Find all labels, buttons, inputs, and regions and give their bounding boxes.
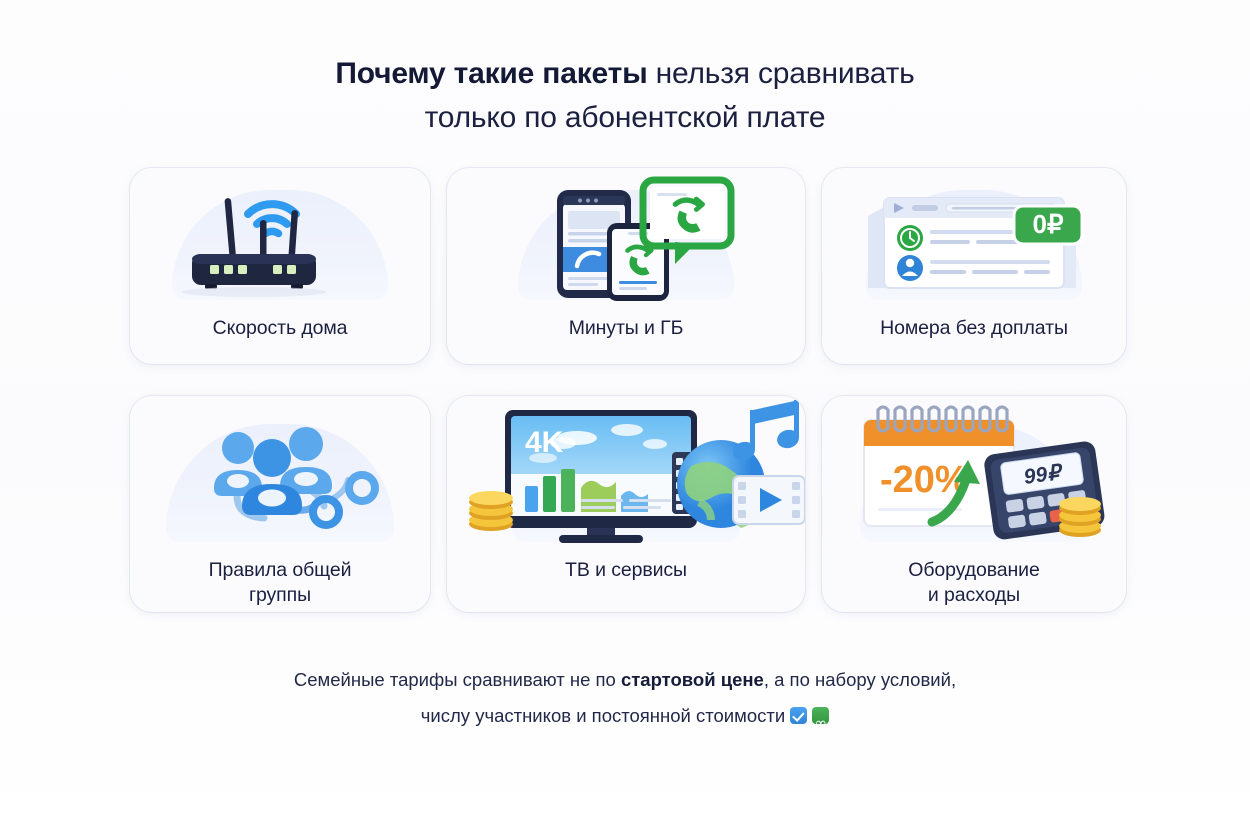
card-label-line1: Номера без доплаты xyxy=(880,317,1068,339)
card-label-line2: и расходы xyxy=(928,584,1020,606)
card-tv-services-artwork: 4K xyxy=(447,396,805,546)
card-tv-services-label: ТВ и сервисы xyxy=(551,558,701,583)
zero-ruble-badge-text: 0₽ xyxy=(1032,209,1063,239)
card-numbers-no-surcharge[interactable]: 0₽ Номера без доплаты xyxy=(822,168,1126,364)
people-network-icon xyxy=(130,396,430,546)
card-group-rules-artwork xyxy=(130,396,430,546)
card-home-speed-artwork xyxy=(130,168,430,304)
phones-call-icon xyxy=(447,168,805,304)
card-minutes-gb-artwork xyxy=(447,168,805,304)
card-minutes-gb-label: Минуты и ГБ xyxy=(555,316,698,341)
coins-stack xyxy=(1059,497,1101,537)
footer-line-1: Семейные тарифы сравнивают не по стартов… xyxy=(0,662,1250,698)
router-wifi-icon xyxy=(130,168,430,304)
calendar-calculator-icon: -20% 99₽ xyxy=(822,396,1126,546)
title-strong-part: Почему такие пакеты xyxy=(335,57,647,90)
footer-text-line2: числу участников и постоянной стоимости xyxy=(421,705,785,726)
card-home-speed[interactable]: Скорость дома xyxy=(130,168,430,364)
card-label-line1: ТВ и сервисы xyxy=(565,559,687,581)
card-group-rules-label: Правила общей группы xyxy=(195,558,366,608)
card-label-line1: Правила общей xyxy=(209,559,352,581)
card-label-line1: Скорость дома xyxy=(213,317,348,339)
card-numbers-label: Номера без доплаты xyxy=(866,316,1082,341)
footer-text-pre: Семейные тарифы сравнивают не по xyxy=(294,669,621,690)
card-tv-services[interactable]: 4K xyxy=(447,396,805,612)
card-label-line2: группы xyxy=(249,584,311,606)
feature-card-grid: Скорость дома xyxy=(130,168,1126,612)
footer-text-strong: стартовой цене xyxy=(621,669,764,690)
page-title: Почему такие пакеты нельзя сравнивать то… xyxy=(0,0,1250,140)
window-zero-ruble-icon: 0₽ xyxy=(822,168,1126,304)
footer-note: Семейные тарифы сравнивают не по стартов… xyxy=(0,662,1250,734)
check-badge-emoji xyxy=(790,707,807,724)
footer-text-post: , а по набору условий, xyxy=(764,669,956,690)
card-label-line1: Минуты и ГБ xyxy=(569,317,684,339)
card-equipment-costs[interactable]: -20% 99₽ xyxy=(822,396,1126,612)
card-label-line1: Оборудование xyxy=(908,559,1039,581)
title-line-1: Почему такие пакеты нельзя сравнивать xyxy=(0,52,1250,96)
card-minutes-gb[interactable]: Минуты и ГБ xyxy=(447,168,805,364)
card-equipment-costs-label: Оборудование и расходы xyxy=(894,558,1053,608)
card-equipment-costs-artwork: -20% 99₽ xyxy=(822,396,1126,546)
infographic-page: Почему такие пакеты нельзя сравнивать то… xyxy=(0,0,1250,833)
tv-screen-4k-text: 4K xyxy=(525,426,564,459)
card-group-rules[interactable]: Правила общей группы xyxy=(130,396,430,612)
title-line-2: только по абонентской плате xyxy=(0,96,1250,140)
footer-line-2: числу участников и постоянной стоимости xyxy=(0,698,1250,734)
tv-globe-media-icon: 4K xyxy=(447,396,805,546)
card-home-speed-label: Скорость дома xyxy=(199,316,362,341)
card-numbers-artwork: 0₽ xyxy=(822,168,1126,304)
infinity-badge-emoji xyxy=(812,707,829,724)
coins-stack xyxy=(469,491,513,531)
title-normal-part: нельзя сравнивать xyxy=(648,57,915,90)
